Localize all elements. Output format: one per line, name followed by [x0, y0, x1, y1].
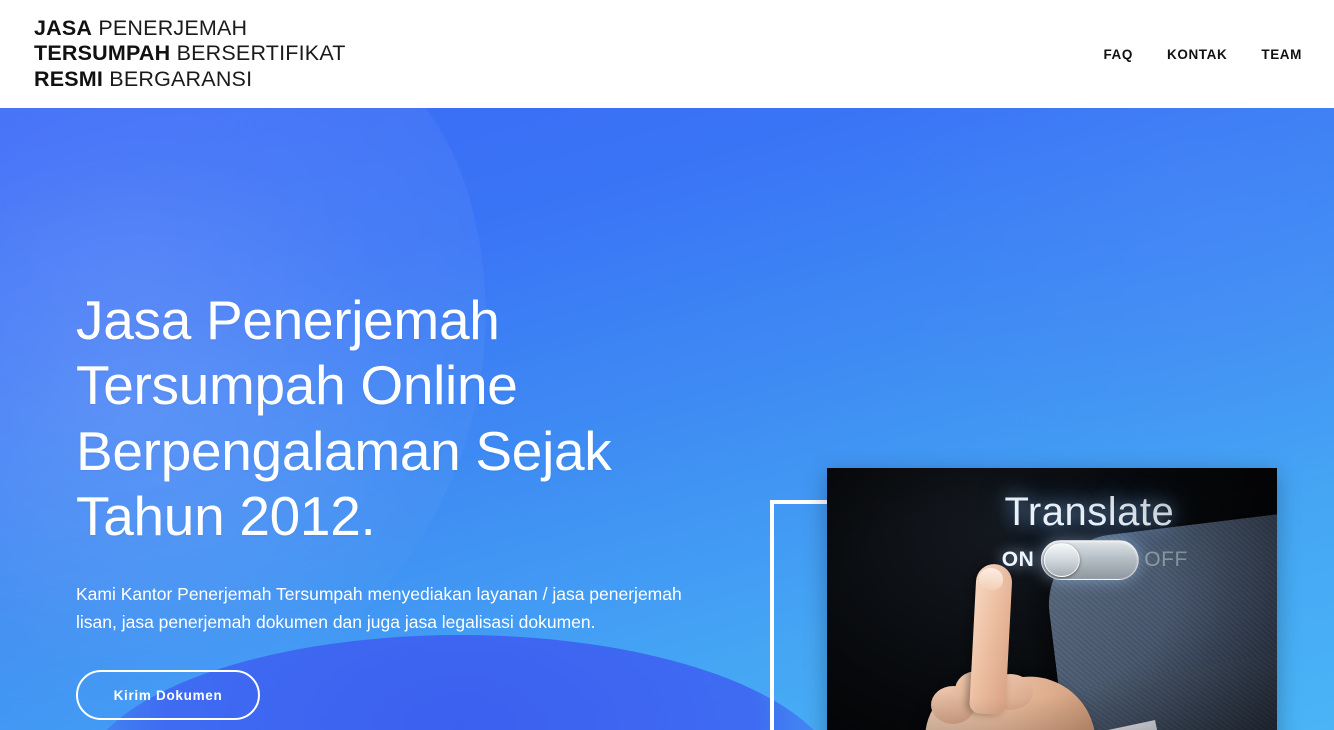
toggle-switch[interactable]: [1040, 540, 1138, 580]
site-header: JASA PENERJEMAH TERSUMPAH BERSERTIFIKAT …: [0, 0, 1334, 108]
toggle-off-label: OFF: [1144, 548, 1188, 572]
logo-word-bergaransi: BERGARANSI: [109, 67, 252, 91]
hero-copy: Jasa Penerjemah Tersumpah Online Berpeng…: [76, 288, 696, 720]
nav-item-faq[interactable]: FAQ: [1103, 47, 1133, 62]
logo-word-penerjemah: PENERJEMAH: [98, 16, 247, 40]
logo-word-resmi: RESMI: [34, 67, 103, 91]
logo-line-3: RESMI BERGARANSI: [34, 67, 346, 92]
nav-item-kontak[interactable]: KONTAK: [1167, 47, 1227, 62]
nav-item-team[interactable]: TEAM: [1261, 47, 1302, 62]
hero-media: Translate ON OFF: [770, 468, 1280, 730]
hero-landing-page: JASA PENERJEMAH TERSUMPAH BERSERTIFIKAT …: [0, 0, 1334, 730]
toggle-knob: [1043, 543, 1079, 577]
finger-nail: [978, 567, 1003, 590]
logo-line-1: JASA PENERJEMAH: [34, 16, 346, 41]
hero-title: Jasa Penerjemah Tersumpah Online Berpeng…: [76, 288, 696, 550]
main-navigation: FAQ KONTAK TEAM: [1103, 47, 1302, 62]
logo-line-2: TERSUMPAH BERSERTIFIKAT: [34, 41, 346, 66]
hero-section: Jasa Penerjemah Tersumpah Online Berpeng…: [0, 108, 1334, 730]
background-glow-right: [874, 108, 1334, 498]
translate-toggle-row: ON OFF: [1002, 540, 1188, 580]
hero-subtitle: Kami Kantor Penerjemah Tersumpah menyedi…: [76, 580, 688, 637]
logo-word-tersumpah: TERSUMPAH: [34, 41, 170, 65]
logo-word-jasa: JASA: [34, 16, 92, 40]
translate-label: Translate: [1004, 490, 1174, 535]
translate-toggle-photo: Translate ON OFF: [827, 468, 1277, 730]
toggle-on-label: ON: [1002, 548, 1035, 572]
logo-word-bersertifikat: BERSERTIFIKAT: [177, 41, 346, 65]
kirim-dokumen-button[interactable]: Kirim Dokumen: [76, 670, 260, 720]
site-logo[interactable]: JASA PENERJEMAH TERSUMPAH BERSERTIFIKAT …: [34, 16, 346, 91]
